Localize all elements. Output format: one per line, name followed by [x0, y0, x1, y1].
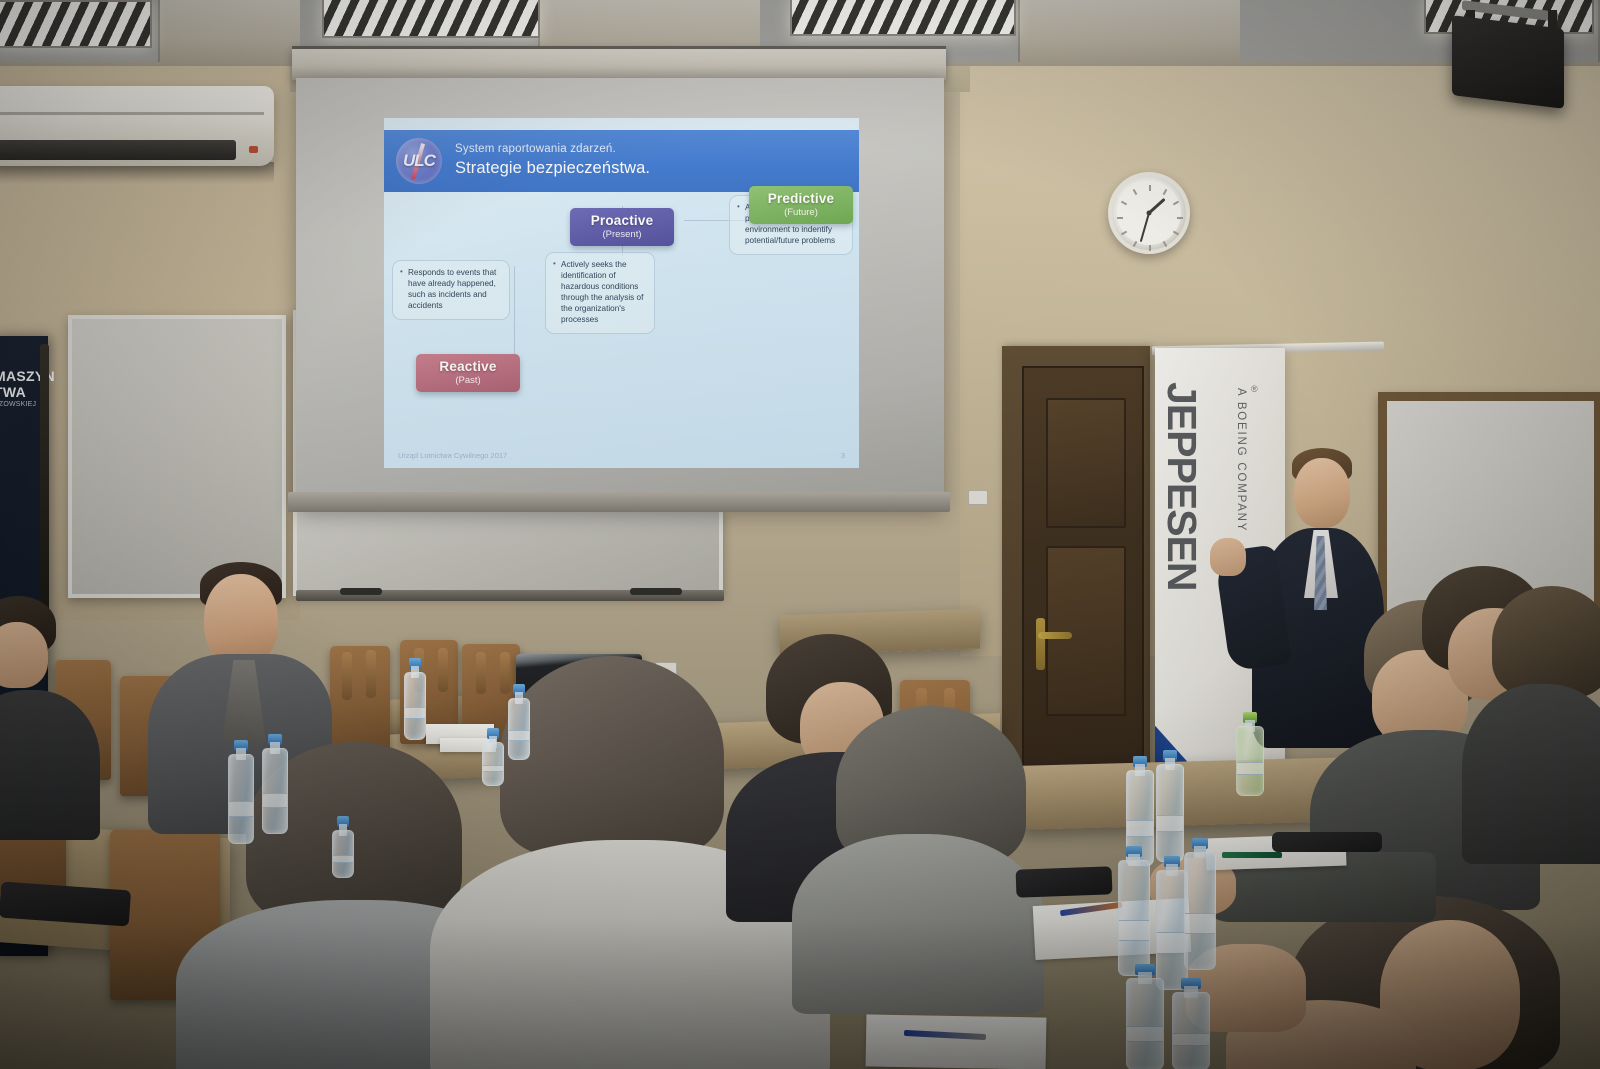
clock-face [1117, 181, 1181, 245]
water-bottle [1118, 846, 1150, 976]
callout-reactive-text: Responds to events that have already hap… [400, 268, 501, 312]
diagram-box-proactive-name: Proactive [574, 213, 670, 228]
bottle-body [1184, 852, 1216, 970]
diagram-box-reactive-when: (Past) [420, 375, 516, 386]
clock-tick [1177, 217, 1183, 219]
presenter-hand [1210, 538, 1246, 576]
ceiling-light [322, 0, 540, 38]
door-lever-icon[interactable] [1038, 632, 1072, 639]
ceiling-speaker [1452, 15, 1564, 109]
clock-tick [1173, 231, 1179, 236]
bottle-label [509, 730, 529, 741]
pencil-case [1016, 866, 1113, 897]
slide-page-number: 3 [841, 451, 845, 460]
ac-power-led-icon [249, 146, 258, 153]
bottle-label [1237, 762, 1263, 774]
water-bottle [1172, 978, 1210, 1069]
audience-shoulders [1462, 684, 1600, 864]
bottle-label [1127, 820, 1153, 837]
bottle-label [405, 707, 425, 719]
chair-slat [476, 652, 486, 694]
chair [330, 646, 390, 756]
water-bottle [228, 740, 254, 844]
bottle-label [263, 793, 287, 808]
presenter-head [1294, 458, 1350, 528]
bottle-body [404, 672, 426, 740]
whiteboard-marker [340, 588, 382, 595]
clock-tick [1133, 241, 1138, 247]
clock-tick [1133, 189, 1138, 195]
water-bottle [332, 816, 354, 878]
wall-clock [1108, 172, 1190, 254]
ulc-logo-icon: ULC [396, 138, 442, 184]
slide-title-group: System raportowania zdarzeń. Strategie b… [455, 143, 650, 178]
clock-tick [1149, 245, 1151, 251]
bottle-body [508, 698, 530, 760]
door-panel-lower [1046, 546, 1126, 716]
bottle-body [1126, 978, 1164, 1069]
whiteboard-panel [68, 315, 286, 598]
diagram-box-predictive: Predictive (Future) [749, 186, 853, 224]
banner-brand-text: JEPPESEN [1158, 382, 1205, 591]
diagram-box-reactive: Reactive (Past) [416, 354, 520, 392]
slide-top-strip [384, 118, 859, 130]
chair-slat [366, 650, 376, 698]
ceiling-light [0, 0, 152, 48]
banner-left-line3: AZOWSKIEJ [0, 401, 36, 408]
logo-text: ULC [396, 138, 442, 184]
ac-vent [0, 140, 236, 160]
bottle-label [1127, 1026, 1163, 1042]
ac-seam [0, 112, 264, 115]
banner-tagline-text: A BOEING COMPANY [1235, 388, 1247, 532]
chair-slat [342, 652, 352, 700]
slide-subtitle: System raportowania zdarzeń. [455, 143, 650, 157]
bottle-body [1236, 726, 1264, 796]
conference-room-photo: ULC System raportowania zdarzeń. Strateg… [0, 0, 1600, 1069]
clock-tick [1149, 185, 1151, 191]
projection-screen-housing [292, 46, 946, 80]
bottle-body [228, 754, 254, 844]
audience-hair [500, 656, 724, 856]
light-switch[interactable] [968, 490, 988, 505]
diagram-connector [514, 266, 515, 366]
water-bottle [1184, 838, 1216, 970]
audience-shoulders [792, 834, 1044, 1014]
water-bottle [482, 728, 504, 786]
diagram-box-proactive: Proactive (Present) [570, 208, 674, 246]
audience-hair [1492, 586, 1600, 698]
bottle-label [1119, 920, 1149, 941]
diagram-box-predictive-name: Predictive [753, 191, 849, 206]
callout-proactive: Actively seeks the identification of haz… [545, 252, 655, 334]
slide-footer: Urząd Lotnictwa Cywilnego 2017 3 [384, 451, 859, 460]
soda-bottle [1236, 712, 1264, 796]
bottle-body [482, 742, 504, 786]
notepad[interactable] [866, 1014, 1047, 1069]
bottle-label [229, 801, 253, 817]
clock-tick [1163, 189, 1168, 195]
diagram-box-proactive-when: (Present) [574, 229, 670, 240]
clock-tick [1121, 201, 1127, 206]
slide-title: Strategie bezpieczeństwa. [455, 159, 650, 178]
chair-slat [438, 648, 448, 692]
clock-tick [1121, 231, 1127, 236]
diagram-box-reactive-name: Reactive [420, 359, 516, 374]
bottle-body [332, 830, 354, 878]
ceiling-light [790, 0, 1016, 36]
callout-reactive: Responds to events that have already hap… [392, 260, 510, 320]
whiteboard-marker [630, 588, 682, 595]
door-handle-plate[interactable] [1036, 618, 1045, 670]
clock-tick [1163, 241, 1168, 247]
air-conditioner-unit [0, 86, 274, 166]
bottle-label [1185, 913, 1215, 934]
projection-screen-weight-bar [288, 492, 950, 512]
clock-tick [1117, 217, 1123, 219]
slide-header: ULC System raportowania zdarzeń. Strateg… [384, 130, 859, 192]
water-bottle [404, 658, 426, 740]
bottle-body [1118, 860, 1150, 976]
bottle-label [1157, 815, 1183, 832]
banner-left-line2: TWA [0, 384, 26, 400]
bottle-label [483, 765, 503, 773]
projected-slide: ULC System raportowania zdarzeń. Strateg… [384, 118, 859, 468]
pen[interactable] [1222, 852, 1282, 858]
attendee-head [204, 574, 278, 666]
bottle-label [1173, 1033, 1209, 1047]
water-bottle [262, 734, 288, 834]
water-bottle [1156, 750, 1184, 862]
water-bottle [1126, 964, 1164, 1069]
slide-body: Analyzes system processes and environmen… [384, 192, 859, 468]
bottle-label [1157, 932, 1187, 953]
callout-proactive-text: Actively seeks the identification of haz… [553, 260, 646, 326]
clock-center-pin [1147, 211, 1152, 216]
whiteboard-panel [293, 508, 723, 596]
bottle-body [262, 748, 288, 834]
registered-mark-icon: ® [1251, 384, 1258, 394]
folder [1272, 832, 1382, 852]
bottle-body [1156, 764, 1184, 862]
slide-footer-source: Urząd Lotnictwa Cywilnego 2017 [398, 451, 507, 460]
clock-tick [1173, 201, 1179, 206]
clock-minute-hand [1140, 213, 1150, 242]
diagram-box-predictive-when: (Future) [753, 207, 849, 218]
water-bottle [508, 684, 530, 760]
wooden-door[interactable] [1022, 366, 1144, 796]
bottle-body [1172, 992, 1210, 1069]
bottle-label [333, 855, 353, 863]
door-panel-upper [1046, 398, 1126, 528]
banner-left-pole [40, 344, 49, 614]
